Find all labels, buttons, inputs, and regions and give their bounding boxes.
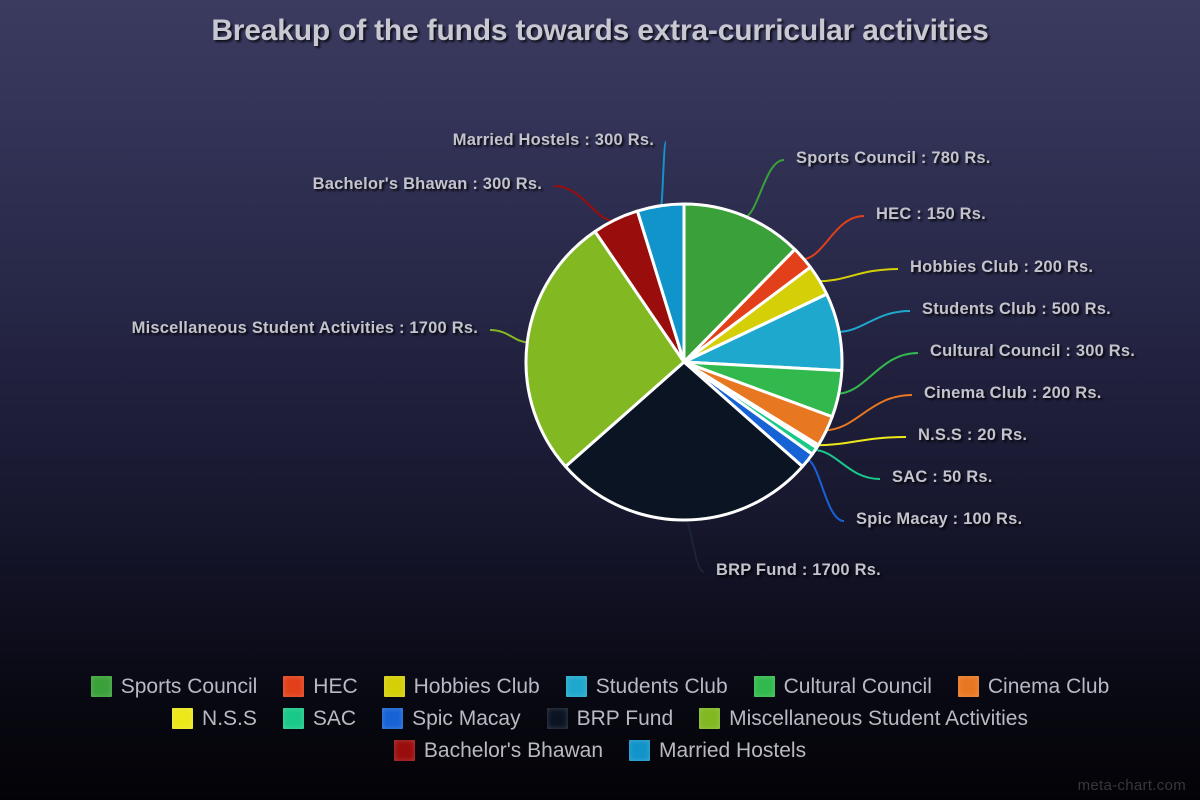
- slice-label: Married Hostels : 300 Rs.: [453, 131, 654, 150]
- pie-chart-page: Breakup of the funds towards extra-curri…: [0, 0, 1200, 800]
- slice-label: Hobbies Club : 200 Rs.: [910, 258, 1093, 277]
- slice-label: Bachelor's Bhawan : 300 Rs.: [313, 175, 542, 194]
- slice-label: Sports Council : 780 Rs.: [796, 149, 991, 168]
- legend-item[interactable]: HEC: [283, 672, 357, 700]
- legend-label: Miscellaneous Student Activities: [729, 708, 1028, 729]
- legend-label: Bachelor's Bhawan: [424, 740, 603, 761]
- legend-swatch-icon: [394, 740, 415, 761]
- legend-item[interactable]: Married Hostels: [629, 736, 806, 764]
- slice-label: Miscellaneous Student Activities : 1700 …: [132, 319, 478, 338]
- legend-item[interactable]: Bachelor's Bhawan: [394, 736, 603, 764]
- slice-label: HEC : 150 Rs.: [876, 205, 986, 224]
- legend-swatch-icon: [629, 740, 650, 761]
- legend-swatch-icon: [547, 708, 568, 729]
- legend: Sports CouncilHECHobbies ClubStudents Cl…: [0, 672, 1200, 764]
- legend-item[interactable]: Sports Council: [91, 672, 258, 700]
- legend-swatch-icon: [91, 676, 112, 697]
- legend-swatch-icon: [172, 708, 193, 729]
- legend-label: HEC: [313, 676, 357, 697]
- legend-item[interactable]: N.S.S: [172, 704, 257, 732]
- legend-label: N.S.S: [202, 708, 257, 729]
- legend-label: Students Club: [596, 676, 728, 697]
- legend-item[interactable]: Spic Macay: [382, 704, 521, 732]
- legend-swatch-icon: [754, 676, 775, 697]
- leader-line: [684, 518, 704, 572]
- legend-label: Cultural Council: [784, 676, 932, 697]
- legend-item[interactable]: BRP Fund: [547, 704, 674, 732]
- legend-swatch-icon: [566, 676, 587, 697]
- slice-label: Spic Macay : 100 Rs.: [856, 510, 1022, 529]
- leader-line: [837, 311, 910, 332]
- legend-item[interactable]: Cultural Council: [754, 672, 932, 700]
- legend-label: Spic Macay: [412, 708, 521, 729]
- leader-line: [802, 216, 865, 259]
- legend-item[interactable]: Miscellaneous Student Activities: [699, 704, 1028, 732]
- legend-item[interactable]: SAC: [283, 704, 356, 732]
- legend-label: Sports Council: [121, 676, 258, 697]
- legend-swatch-icon: [283, 676, 304, 697]
- leader-line: [818, 269, 899, 281]
- legend-label: SAC: [313, 708, 356, 729]
- slice-label: N.S.S : 20 Rs.: [918, 426, 1027, 445]
- leader-line: [554, 186, 616, 221]
- slice-label: Students Club : 500 Rs.: [922, 300, 1111, 319]
- leader-line: [806, 459, 844, 521]
- leader-line: [661, 142, 666, 208]
- leader-line: [816, 437, 906, 445]
- footer-credit: meta-chart.com: [1078, 777, 1186, 794]
- legend-item[interactable]: Hobbies Club: [384, 672, 540, 700]
- legend-item[interactable]: Students Club: [566, 672, 728, 700]
- slice-label: SAC : 50 Rs.: [892, 468, 993, 487]
- leader-line: [813, 450, 880, 479]
- leader-line: [490, 330, 529, 343]
- legend-label: BRP Fund: [577, 708, 674, 729]
- slice-label: BRP Fund : 1700 Rs.: [716, 561, 881, 580]
- legend-label: Hobbies Club: [414, 676, 540, 697]
- slice-label: Cinema Club : 200 Rs.: [924, 384, 1102, 403]
- legend-swatch-icon: [384, 676, 405, 697]
- legend-swatch-icon: [382, 708, 403, 729]
- leader-line: [743, 160, 784, 218]
- leader-line: [837, 353, 918, 394]
- legend-swatch-icon: [283, 708, 304, 729]
- slice-label: Cultural Council : 300 Rs.: [930, 342, 1135, 361]
- legend-swatch-icon: [699, 708, 720, 729]
- legend-label: Cinema Club: [988, 676, 1109, 697]
- legend-swatch-icon: [958, 676, 979, 697]
- legend-item[interactable]: Cinema Club: [958, 672, 1109, 700]
- pie-slice-group: [526, 204, 842, 520]
- legend-label: Married Hostels: [659, 740, 806, 761]
